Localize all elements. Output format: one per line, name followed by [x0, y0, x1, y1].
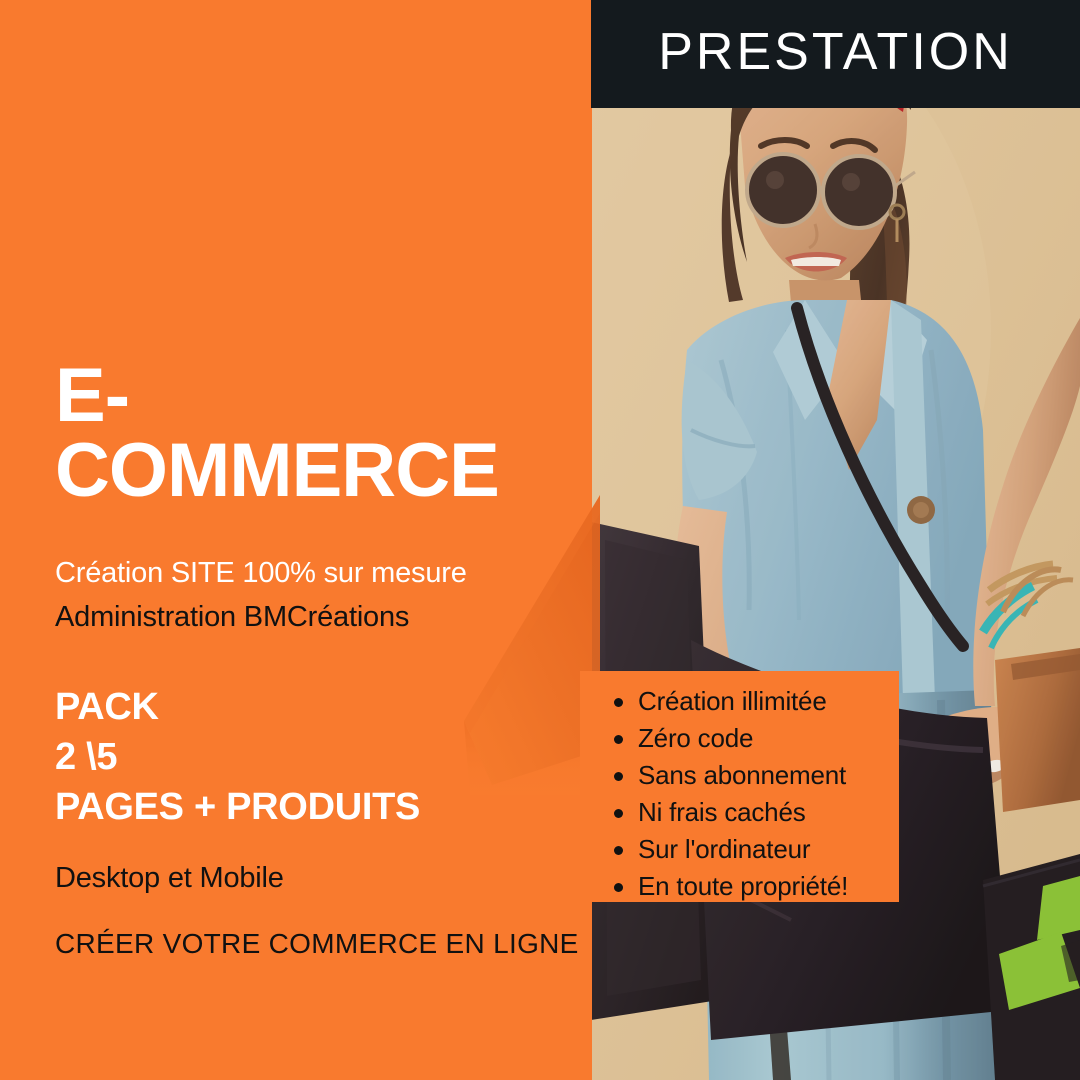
prestation-banner: PRESTATION [591, 0, 1080, 108]
subheading-block: Création SITE 100% sur mesure Administra… [55, 552, 575, 639]
subhead-line-1: Création SITE 100% sur mesure [55, 552, 575, 596]
headline-line-2: COMMERCE [55, 433, 575, 508]
pack-line-2: 2 \5 [55, 732, 575, 782]
call-to-action-text: CRÉER VOTRE COMMERCE EN LIGNE [55, 928, 579, 960]
poster-canvas: E- COMMERCE Création SITE 100% sur mesur… [0, 0, 1080, 1080]
headline-line-1: E- [55, 358, 575, 433]
features-box: Création illimitée Zéro code Sans abonne… [580, 671, 899, 902]
hero-photo [591, 0, 1080, 1080]
list-item: En toute propriété! [596, 868, 899, 905]
list-item: Sans abonnement [596, 757, 899, 794]
banner-title: PRESTATION [658, 26, 1013, 82]
list-item: Zéro code [596, 720, 899, 757]
list-item: Création illimitée [596, 683, 899, 720]
devices-label: Desktop et Mobile [55, 862, 284, 895]
pack-details-block: PACK 2 \5 PAGES + PRODUITS [55, 682, 575, 832]
left-orange-panel [0, 0, 592, 1080]
features-list: Création illimitée Zéro code Sans abonne… [580, 671, 899, 904]
list-item: Ni frais cachés [596, 794, 899, 831]
list-item: Sur l'ordinateur [596, 831, 899, 868]
pack-line-1: PACK [55, 682, 575, 732]
pack-line-3: PAGES + PRODUITS [55, 782, 575, 832]
page-title: E- COMMERCE [55, 358, 575, 508]
subhead-line-2: Administration BMCréations [55, 596, 575, 640]
